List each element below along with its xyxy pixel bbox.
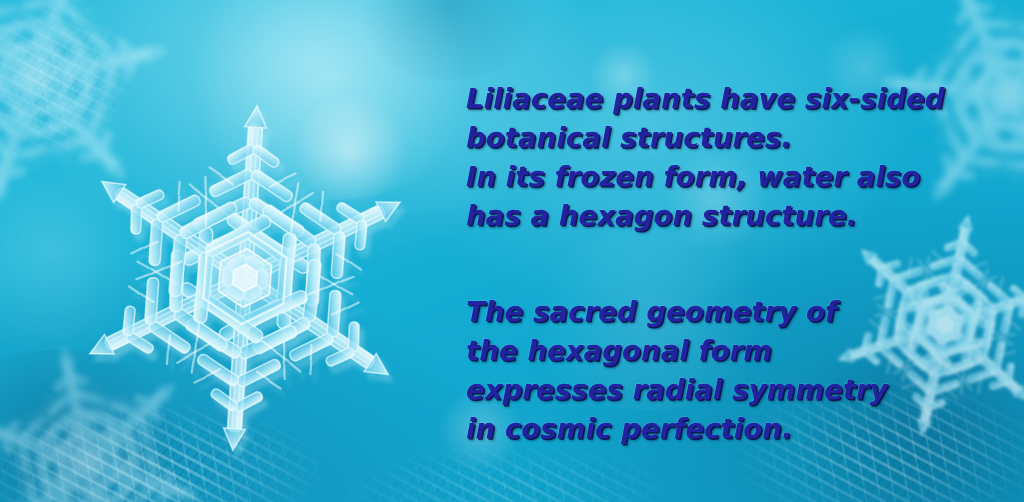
bokeh-highlight xyxy=(0,150,160,350)
top-left-snowflake xyxy=(0,0,178,222)
paragraph-sacred-geometry: The sacred geometry of the hexagonal for… xyxy=(466,293,936,449)
bokeh-highlight xyxy=(290,95,410,205)
main-snowflake xyxy=(60,93,430,463)
caption-line: Liliaceae plants have six-sided xyxy=(466,80,936,119)
caption-line: botanical structures. xyxy=(466,119,936,158)
caption-line: In its frozen form, water also xyxy=(466,158,936,197)
ice-texture-bottom-left xyxy=(0,380,390,502)
caption-line: The sacred geometry of xyxy=(466,293,936,332)
bottom-left-snowflake xyxy=(0,338,212,502)
paragraph-hexagon-facts: Liliaceae plants have six-sided botanica… xyxy=(466,80,936,236)
ice-texture-left-edge xyxy=(0,0,160,180)
bokeh-shadow xyxy=(350,0,550,80)
bokeh-highlight xyxy=(180,0,480,200)
caption-line: has a hexagon structure. xyxy=(466,197,936,236)
caption-line: the hexagonal form xyxy=(466,332,936,371)
caption-line: in cosmic perfection. xyxy=(466,410,936,449)
bokeh-shadow xyxy=(0,350,200,502)
caption-line: expresses radial symmetry xyxy=(466,371,936,410)
snowflake-poster: Liliaceae plants have six-sided botanica… xyxy=(0,0,1024,502)
caption-text-block: Liliaceae plants have six-sided botanica… xyxy=(466,80,936,449)
